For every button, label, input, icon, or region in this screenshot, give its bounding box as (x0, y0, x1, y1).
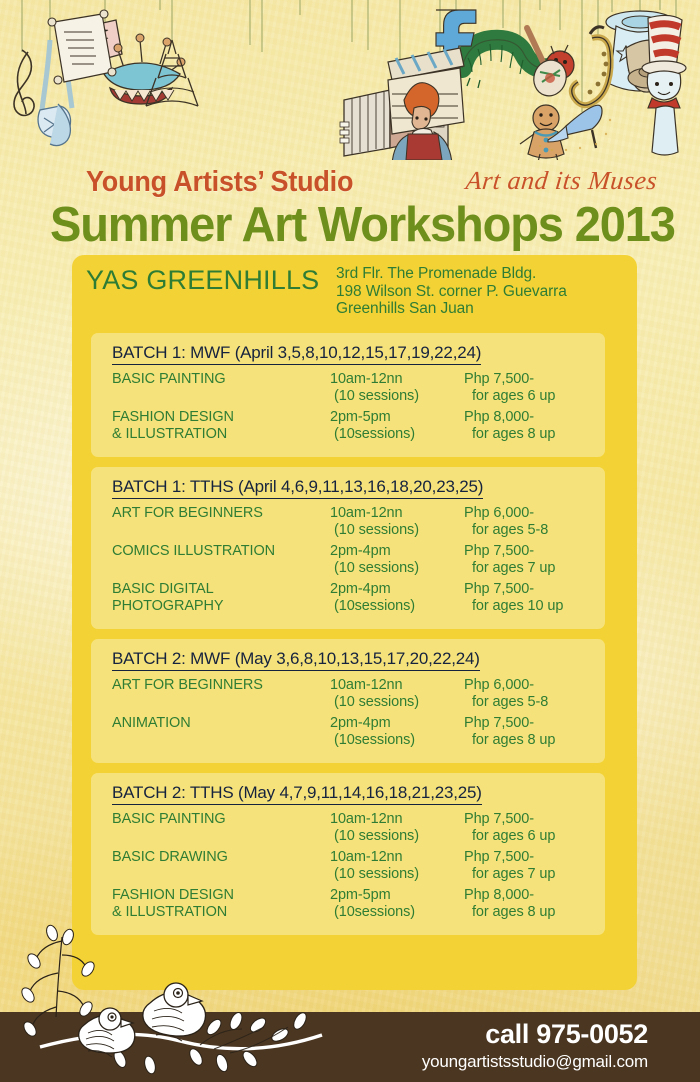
workshop-schedule: 10am-12nn(10 sessions) (330, 811, 419, 845)
workshop-name: BASIC PAINTING (112, 371, 226, 388)
workshop-price: Php 7,500- (464, 371, 534, 387)
workshop-time: 10am-12nn (330, 505, 402, 521)
workshop-ages: for ages 7 up (464, 866, 555, 883)
batch-card: BATCH 2: MWF (May 3,6,8,10,13,15,17,20,2… (91, 639, 605, 763)
workshop-pricing: Php 6,000-for ages 5-8 (464, 677, 548, 711)
workshop-ages: for ages 8 up (464, 426, 555, 443)
workshop-pricing: Php 7,500-for ages 6 up (464, 811, 555, 845)
birds-on-branch-icon (0, 907, 330, 1082)
workshop-pricing: Php 7,500-for ages 6 up (464, 371, 555, 405)
workshop-schedule: 2pm-4pm(10sessions) (330, 715, 415, 749)
cat-in-the-hat-icon (642, 15, 686, 155)
brand-title: Young Artists’ Studio (86, 166, 353, 199)
batch-card: BATCH 1: TTHS (April 4,6,9,11,13,16,18,2… (91, 467, 605, 629)
branch-address: 3rd Flr. The Promenade Bldg. 198 Wilson … (336, 265, 627, 318)
workshop-ages: for ages 6 up (464, 388, 555, 405)
workshop-ages: for ages 6 up (464, 828, 555, 845)
address-line-3: Greenhills San Juan (336, 300, 627, 318)
scroll-icon (48, 10, 116, 84)
workshop-sessions: (10sessions) (330, 732, 415, 749)
workshop-time: 10am-12nn (330, 371, 402, 387)
workshop-time: 10am-12nn (330, 677, 402, 693)
workshop-schedule: 10am-12nn(10 sessions) (330, 849, 419, 883)
workshop-ages: for ages 5-8 (464, 522, 548, 539)
workshop-name: BASIC PAINTING (112, 811, 226, 828)
workshop-row: FASHION DESIGN & ILLUSTRATION2pm-5pm(10s… (112, 409, 605, 447)
workshop-row: BASIC PAINTING10am-12nn(10 sessions)Php … (112, 371, 605, 409)
workshop-row: ART FOR BEGINNERS10am-12nn(10 sessions)P… (112, 677, 605, 715)
workshop-name: FASHION DESIGN & ILLUSTRATION (112, 409, 234, 443)
workshop-schedule: 2pm-4pm(10sessions) (330, 581, 415, 615)
workshop-time: 2pm-4pm (330, 715, 391, 731)
workshop-name: COMICS ILLUSTRATION (112, 543, 275, 560)
workshop-row: BASIC DRAWING10am-12nn(10 sessions)Php 7… (112, 849, 605, 887)
batch-heading: BATCH 1: TTHS (April 4,6,9,11,13,16,18,2… (112, 477, 483, 499)
workshop-sessions: (10 sessions) (330, 522, 419, 539)
workshop-time: 2pm-4pm (330, 581, 391, 597)
phone-number[interactable]: call 975-0052 (485, 1019, 648, 1050)
workshop-pricing: Php 7,500-for ages 10 up (464, 581, 563, 615)
workshop-price: Php 8,000- (464, 887, 534, 903)
workshop-sessions: (10 sessions) (330, 866, 419, 883)
workshop-ages: for ages 8 up (464, 732, 555, 749)
branch-name: YAS GREENHILLS (86, 265, 319, 295)
tagline: Art and its Muses (464, 166, 658, 196)
treble-clef-icon (14, 50, 34, 115)
page-title: Summer Art Workshops 2013 (50, 197, 675, 253)
workshop-price: Php 6,000- (464, 677, 534, 693)
workshop-schedule: 2pm-5pm(10sessions) (330, 887, 415, 921)
workshop-price: Php 7,500- (464, 715, 534, 731)
workshop-row: ART FOR BEGINNERS10am-12nn(10 sessions)P… (112, 505, 605, 543)
email-address[interactable]: youngartistsstudio@gmail.com (422, 1052, 648, 1072)
workshop-sessions: (10 sessions) (330, 694, 419, 711)
workshop-sessions: (10 sessions) (330, 828, 419, 845)
workshop-time: 10am-12nn (330, 811, 402, 827)
workshop-sessions: (10sessions) (330, 904, 415, 921)
workshop-name: ART FOR BEGINNERS (112, 505, 263, 522)
workshop-name: ANIMATION (112, 715, 191, 732)
bird-icon-2 (143, 983, 206, 1041)
workshop-price: Php 7,500- (464, 849, 534, 865)
workshop-ages: for ages 8 up (464, 904, 555, 921)
workshop-row: COMICS ILLUSTRATION2pm-4pm(10 sessions)P… (112, 543, 605, 581)
workshop-price: Php 7,500- (464, 581, 534, 597)
poster-header: Young Artists’ Studio Art and its Muses … (0, 160, 700, 255)
workshop-pricing: Php 6,000-for ages 5-8 (464, 505, 548, 539)
workshop-pricing: Php 7,500-for ages 7 up (464, 849, 555, 883)
workshop-pricing: Php 8,000-for ages 8 up (464, 409, 555, 443)
workshop-price: Php 8,000- (464, 409, 534, 425)
workshop-name: BASIC DRAWING (112, 849, 228, 866)
batch-heading: BATCH 1: MWF (April 3,5,8,10,12,15,17,19… (112, 343, 481, 365)
workshop-time: 2pm-5pm (330, 409, 391, 425)
workshop-name: BASIC DIGITAL PHOTOGRAPHY (112, 581, 223, 615)
workshop-pricing: Php 7,500-for ages 7 up (464, 543, 555, 577)
workshop-pricing: Php 8,000-for ages 8 up (464, 887, 555, 921)
batch-heading: BATCH 2: MWF (May 3,6,8,10,13,15,17,20,2… (112, 649, 480, 671)
address-line-1: 3rd Flr. The Promenade Bldg. (336, 265, 627, 283)
workshop-schedule: 2pm-4pm(10 sessions) (330, 543, 419, 577)
workshop-name: ART FOR BEGINNERS (112, 677, 263, 694)
hanging-ornaments-band (0, 0, 700, 160)
workshop-row: BASIC PAINTING10am-12nn(10 sessions)Php … (112, 811, 605, 849)
schedule-panel: YAS GREENHILLS 3rd Flr. The Promenade Bl… (72, 255, 637, 990)
workshop-schedule: 2pm-5pm(10sessions) (330, 409, 415, 443)
workshop-schedule: 10am-12nn(10 sessions) (330, 677, 419, 711)
workshop-ages: for ages 5-8 (464, 694, 548, 711)
batch-card: BATCH 1: MWF (April 3,5,8,10,12,15,17,19… (91, 333, 605, 457)
workshop-schedule: 10am-12nn(10 sessions) (330, 505, 419, 539)
workshop-ages: for ages 10 up (464, 598, 563, 615)
workshop-sessions: (10sessions) (330, 426, 415, 443)
workshop-time: 2pm-5pm (330, 887, 391, 903)
workshop-row: ANIMATION2pm-4pm(10sessions)Php 7,500-fo… (112, 715, 605, 753)
workshop-sessions: (10 sessions) (330, 560, 419, 577)
batch-heading: BATCH 2: TTHS (May 4,7,9,11,14,16,18,21,… (112, 783, 482, 805)
workshop-row: BASIC DIGITAL PHOTOGRAPHY2pm-4pm(10sessi… (112, 581, 605, 619)
workshop-price: Php 7,500- (464, 811, 534, 827)
workshop-sessions: (10 sessions) (330, 388, 419, 405)
workshop-ages: for ages 7 up (464, 560, 555, 577)
workshop-schedule: 10am-12nn(10 sessions) (330, 371, 419, 405)
workshop-time: 2pm-4pm (330, 543, 391, 559)
workshop-pricing: Php 7,500-for ages 8 up (464, 715, 555, 749)
workshop-price: Php 6,000- (464, 505, 534, 521)
address-line-2: 198 Wilson St. corner P. Guevarra (336, 283, 627, 301)
saxophone-icon (572, 27, 611, 105)
workshop-price: Php 7,500- (464, 543, 534, 559)
workshop-sessions: (10sessions) (330, 598, 415, 615)
workshop-time: 10am-12nn (330, 849, 402, 865)
branch-info: YAS GREENHILLS 3rd Flr. The Promenade Bl… (86, 265, 627, 325)
